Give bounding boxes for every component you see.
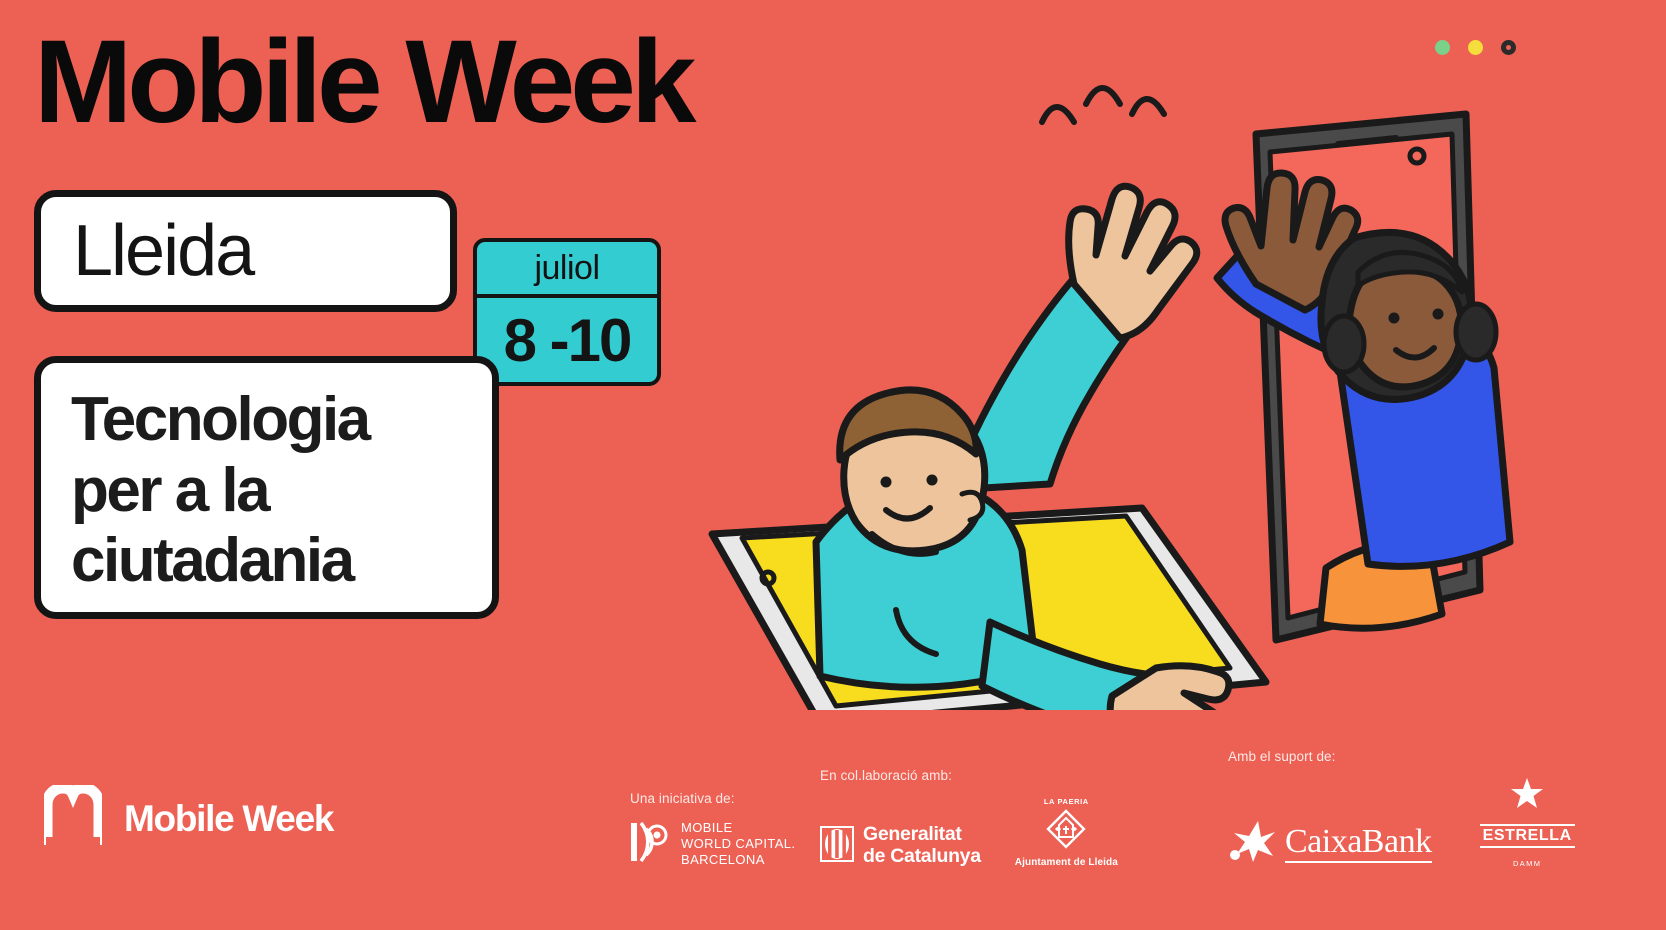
date-days: 8 -10 [477, 298, 657, 382]
dot-green-icon [1435, 40, 1450, 55]
mobile-week-m-monogram-icon [44, 785, 102, 852]
tagline-line-3: ciutadania [71, 526, 369, 597]
poster-canvas: Mobile Week Lleida juliol 8 -10 Tecnolog… [0, 0, 1666, 930]
caixabank-wordmark: CaixaBank [1285, 824, 1432, 864]
tagline-line-2: per a la [71, 456, 369, 527]
mwc-line-3: BARCELONA [681, 852, 795, 868]
dot-dark-ring-icon [1501, 40, 1516, 55]
sponsor-row: Generalitat de Catalunya LA PAERIA [820, 797, 1118, 868]
footer-brand-logo: Mobile Week [44, 785, 333, 852]
tagline-line-1: Tecnologia [71, 385, 369, 456]
paeria-city-label: Ajuntament de Lleida [1015, 857, 1118, 868]
sponsor-group-label: Amb el suport de: [1228, 749, 1575, 764]
mwc-wordmark: MOBILE WORLD CAPITAL. BARCELONA [681, 820, 795, 868]
logo-caixabank: CaixaBank [1228, 819, 1432, 868]
city-label: Lleida [73, 215, 253, 287]
estrella-star-icon [1510, 778, 1544, 815]
mwc-spiral-icon [630, 821, 672, 868]
hero-illustration [690, 60, 1520, 710]
sponsor-group-collaboration: En col.laboració amb: Generalitat [820, 768, 1118, 868]
damm-wordmark: DAMM [1513, 859, 1542, 868]
sponsor-group-label: Una iniciativa de: [630, 791, 795, 806]
catalan-shield-icon [820, 826, 854, 867]
sponsor-bar: Una iniciativa de: MOBILE [630, 758, 1626, 868]
page-title: Mobile Week [34, 22, 692, 142]
sponsor-group-label: En col.laboració amb: [820, 768, 1118, 783]
logo-generalitat-de-catalunya: Generalitat de Catalunya [820, 824, 981, 868]
mwc-line-1: MOBILE [681, 820, 795, 836]
logo-estrella-damm: ESTRELLA DAMM [1480, 778, 1575, 868]
caixabank-star-icon [1228, 819, 1276, 868]
generalitat-line-2: de Catalunya [863, 846, 981, 868]
sponsor-row: MOBILE WORLD CAPITAL. BARCELONA [630, 820, 795, 868]
city-card: Lleida [34, 190, 457, 312]
tagline-card: Tecnologia per a la ciutadania [34, 356, 499, 619]
paeria-label: LA PAERIA [1044, 797, 1089, 806]
sponsor-group-initiative: Una iniciativa de: MOBILE [630, 791, 795, 868]
high-five-impact-marks [1042, 88, 1164, 122]
footer-logo-wordmark: Mobile Week [124, 798, 333, 840]
paeria-diamond-icon [1046, 809, 1086, 854]
generalitat-line-1: Generalitat [863, 824, 981, 846]
logo-mobile-world-capital-barcelona: MOBILE WORLD CAPITAL. BARCELONA [630, 820, 795, 868]
date-month: juliol [477, 242, 657, 298]
mwc-line-2: WORLD CAPITAL. [681, 836, 795, 852]
sponsor-group-support: Amb el suport de: CaixaBank [1228, 749, 1575, 868]
tagline-text: Tecnologia per a la ciutadania [71, 373, 369, 597]
logo-ajuntament-de-lleida: LA PAERIA Ajuntament de Lleida [1015, 797, 1118, 868]
generalitat-wordmark: Generalitat de Catalunya [863, 824, 981, 868]
dot-yellow-icon [1468, 40, 1483, 55]
decorative-dots [1435, 40, 1516, 55]
date-badge: juliol 8 -10 [473, 238, 661, 386]
estrella-wordmark: ESTRELLA [1480, 824, 1575, 848]
sponsor-row: CaixaBank ESTRELLA DAMM [1228, 778, 1575, 868]
